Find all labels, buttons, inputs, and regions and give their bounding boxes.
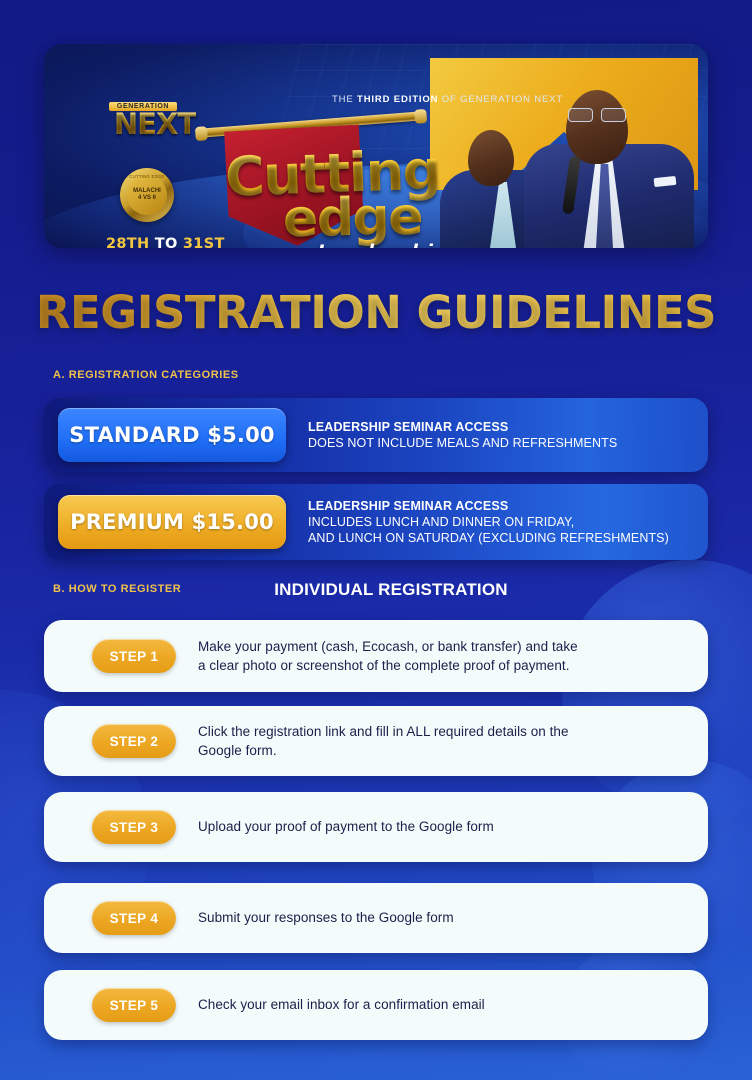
step-3-line-1: Upload your proof of payment to the Goog… (198, 817, 494, 836)
category-card-premium[interactable]: PREMIUM $15.00 LEADERSHIP SEMINAR ACCESS… (44, 484, 708, 560)
step-3-text: Upload your proof of payment to the Goog… (176, 817, 494, 836)
section-label-categories: A. REGISTRATION CATEGORIES (53, 369, 239, 381)
step-1-pill: STEP 1 (92, 639, 176, 673)
scripture-badge: CUTTING EDGE MALACHI 4 VS 6 (120, 168, 174, 222)
step-5-pill: STEP 5 (92, 988, 176, 1022)
page-title: REGISTRATION GUIDELINES (0, 286, 752, 339)
standard-description: LEADERSHIP SEMINAR ACCESS DOES NOT INCLU… (286, 419, 617, 452)
banner-tagline: THE THIRD EDITION OF GENERATION NEXT (332, 94, 563, 105)
step-2-line-1: Click the registration link and fill in … (198, 722, 569, 741)
tagline-suffix: OF GENERATION NEXT (438, 94, 563, 105)
premium-access-detail-1: INCLUDES LUNCH AND DINNER ON FRIDAY, (308, 514, 669, 530)
step-1-line-1: Make your payment (cash, Ecocash, or ban… (198, 637, 578, 656)
step-card-5[interactable]: STEP 5 Check your email inbox for a conf… (44, 970, 708, 1040)
logo-main-text: NEXT (114, 107, 196, 141)
generation-next-logo: GENERATION NEXT (109, 102, 201, 139)
glasses-icon (568, 108, 626, 120)
badge-inner: MALACHI 4 VS 6 (127, 175, 167, 215)
badge-reference-line1: MALACHI (133, 188, 161, 195)
category-card-standard[interactable]: STANDARD $5.00 LEADERSHIP SEMINAR ACCESS… (44, 398, 708, 472)
step-4-line-1: Submit your responses to the Google form (198, 908, 454, 927)
tagline-bold: THIRD EDITION (357, 94, 438, 105)
step-5-text: Check your email inbox for a confirmatio… (176, 995, 485, 1014)
step-1-text: Make your payment (cash, Ecocash, or ban… (176, 637, 578, 675)
tagline-prefix: THE (332, 94, 357, 105)
step-card-4[interactable]: STEP 4 Submit your responses to the Goog… (44, 883, 708, 953)
speaker-head (468, 130, 514, 186)
premium-description: LEADERSHIP SEMINAR ACCESS INCLUDES LUNCH… (286, 498, 669, 547)
premium-access-detail-2: AND LUNCH ON SATURDAY (EXCLUDING REFRESH… (308, 530, 669, 546)
event-banner: THE THIRD EDITION OF GENERATION NEXT GEN… (44, 44, 708, 248)
step-2-text: Click the registration link and fill in … (176, 722, 569, 760)
step-card-2[interactable]: STEP 2 Click the registration link and f… (44, 706, 708, 776)
cutting-edge-logo: Cutting edge Leadership (199, 108, 454, 248)
speaker-head (566, 90, 628, 164)
step-2-line-2: Google form. (198, 741, 569, 760)
step-card-1[interactable]: STEP 1 Make your payment (cash, Ecocash,… (44, 620, 708, 692)
date-to: TO (149, 236, 183, 248)
badge-arc-text: CUTTING EDGE (120, 174, 174, 179)
step-card-3[interactable]: STEP 3 Upload your proof of payment to t… (44, 792, 708, 862)
individual-registration-heading: INDIVIDUAL REGISTRATION (0, 580, 752, 600)
standard-price-pill[interactable]: STANDARD $5.00 (58, 408, 286, 462)
standard-access-detail: DOES NOT INCLUDE MEALS AND REFRESHMENTS (308, 435, 617, 451)
step-1-line-2: a clear photo or screenshot of the compl… (198, 656, 578, 675)
step-3-pill: STEP 3 (92, 810, 176, 844)
date-start: 28TH (106, 236, 149, 248)
step-5-line-1: Check your email inbox for a confirmatio… (198, 995, 485, 1014)
premium-access-title: LEADERSHIP SEMINAR ACCESS (308, 498, 669, 514)
step-2-pill: STEP 2 (92, 724, 176, 758)
logo-word-edge: edge (282, 187, 422, 248)
premium-price-pill[interactable]: PREMIUM $15.00 (58, 495, 286, 549)
logo-word-leadership: Leadership (317, 240, 448, 248)
step-4-pill: STEP 4 (92, 901, 176, 935)
step-4-text: Submit your responses to the Google form (176, 908, 454, 927)
badge-reference-line2: 4 VS 6 (138, 195, 156, 202)
standard-access-title: LEADERSHIP SEMINAR ACCESS (308, 419, 617, 435)
